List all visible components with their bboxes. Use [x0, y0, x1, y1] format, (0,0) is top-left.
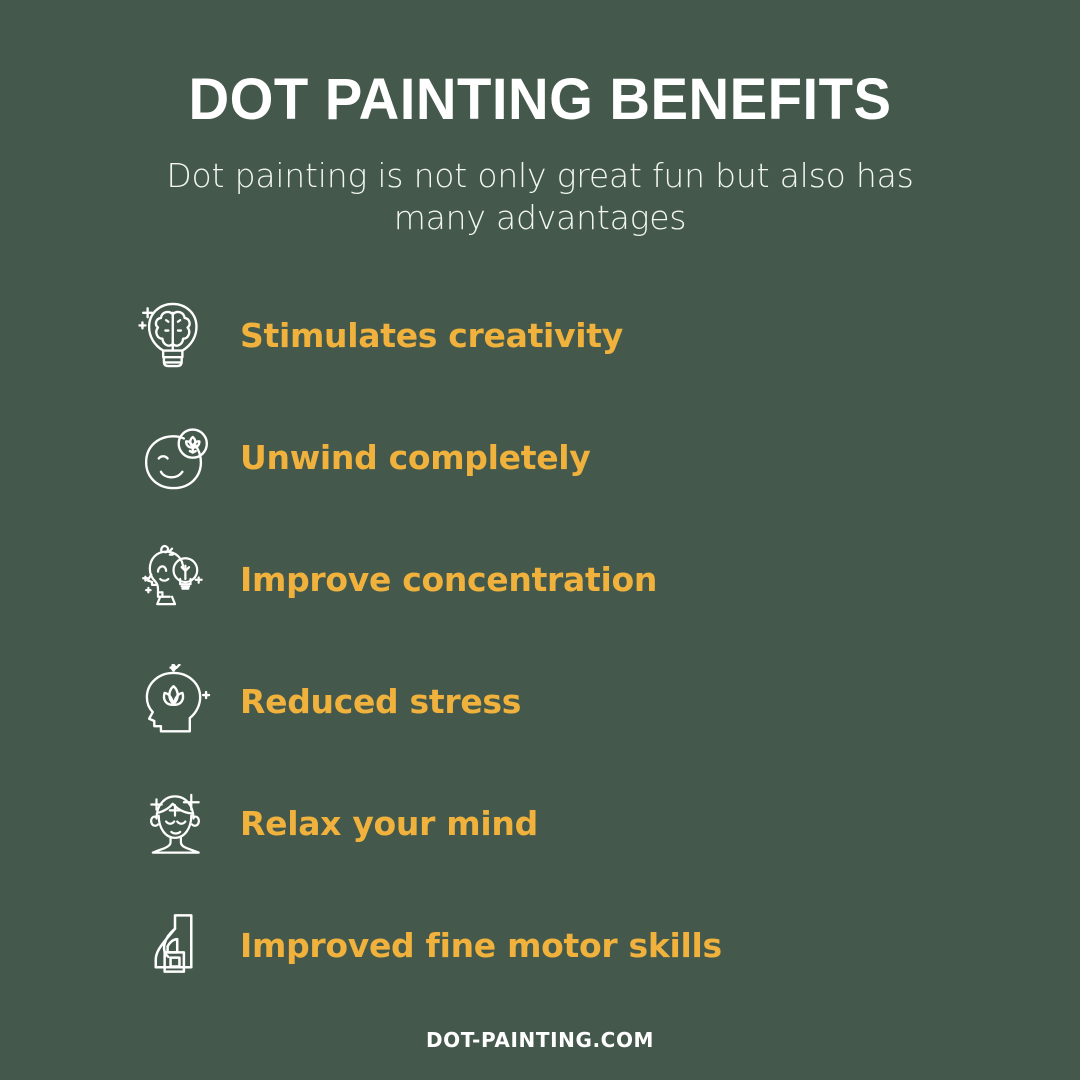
benefit-label: Improved fine motor skills [240, 926, 722, 965]
list-item: Stimulates creativity [136, 285, 996, 385]
benefit-label: Stimulates creativity [240, 316, 623, 355]
list-item: Improved fine motor skills [136, 895, 996, 995]
benefit-label: Improve concentration [240, 560, 657, 599]
benefit-label: Relax your mind [240, 804, 538, 843]
head-profile-lightbulb-icon [136, 540, 214, 618]
header: DOT PAINTING BENEFITS Dot painting is no… [0, 0, 1080, 239]
infographic-canvas: DOT PAINTING BENEFITS Dot painting is no… [0, 0, 1080, 1080]
benefit-label: Unwind completely [240, 438, 591, 477]
list-item: Relax your mind [136, 773, 996, 873]
head-lotus-sparkle-icon [136, 662, 214, 740]
benefit-label: Reduced stress [240, 682, 521, 721]
site-url: DOT-PAINTING.COM [426, 1028, 654, 1052]
benefits-list: Stimulates creativity Unwind completely [136, 285, 996, 1017]
lightbulb-brain-sparkle-icon [136, 296, 214, 374]
smiling-face-flower-icon [136, 418, 214, 496]
page-subtitle: Dot painting is not only great fun but a… [145, 155, 935, 239]
meditating-face-sparkle-icon [136, 784, 214, 862]
hand-holding-stylus-icon [136, 906, 214, 984]
footer: DOT-PAINTING.COM [0, 1028, 1080, 1052]
list-item: Unwind completely [136, 407, 996, 507]
list-item: Reduced stress [136, 651, 996, 751]
page-title: DOT PAINTING BENEFITS [16, 70, 1064, 131]
list-item: Improve concentration [136, 529, 996, 629]
